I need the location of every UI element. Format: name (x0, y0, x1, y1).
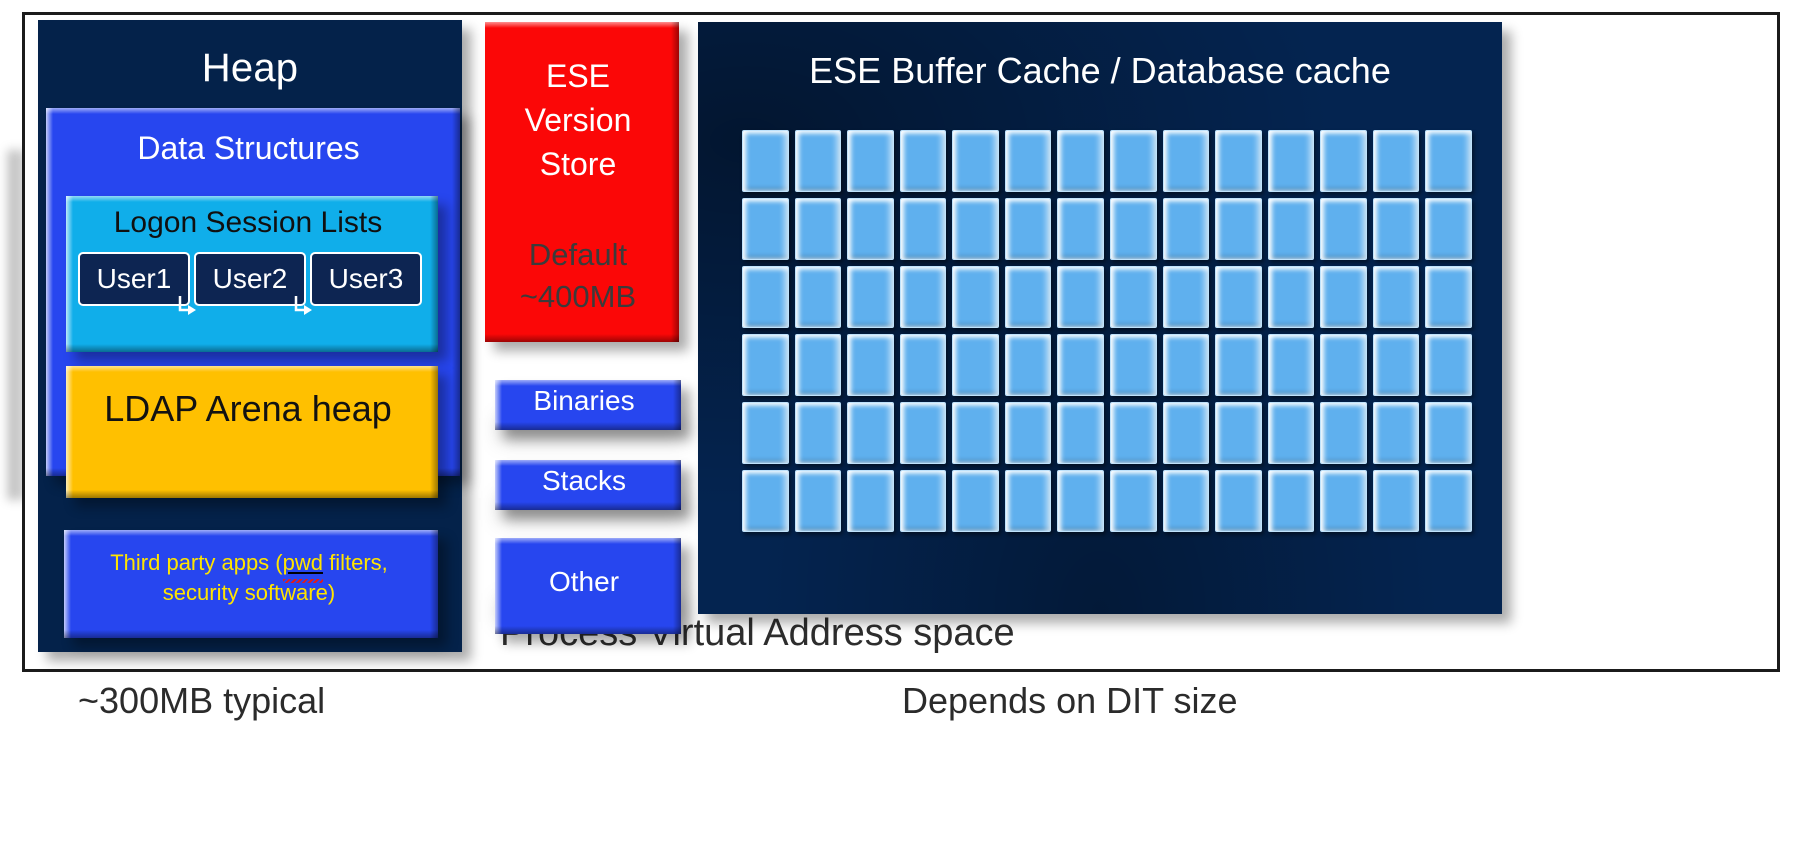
cache-page-cell (1215, 266, 1262, 328)
cache-page-cell (1163, 130, 1210, 192)
cache-page-cell (1320, 266, 1367, 328)
user-box-1[interactable]: User1 (78, 252, 190, 306)
binaries-label: Binaries (495, 380, 673, 422)
cache-page-cell (1163, 334, 1210, 396)
tp-text-after: filters, (323, 550, 388, 575)
cache-page-cell (900, 334, 947, 396)
cache-page-cell (1373, 470, 1420, 532)
cache-page-cell (1268, 334, 1315, 396)
bevel-shadow-right (430, 530, 438, 638)
cache-page-cell (1320, 198, 1367, 260)
third-party-apps-label: Third party apps (pwd filters, security … (74, 548, 424, 608)
stacks-box[interactable]: Stacks (495, 460, 681, 510)
cache-page-cell (795, 470, 842, 532)
cache-page-cell (1057, 266, 1104, 328)
cache-page-cell (1005, 470, 1052, 532)
ev-sub-line-1: Default (529, 237, 627, 272)
cache-page-cell (1215, 198, 1262, 260)
bevel-highlight-top (64, 530, 438, 536)
cache-page-cell (1373, 198, 1420, 260)
cache-page-cell (1110, 402, 1157, 464)
user-label: User3 (329, 263, 404, 295)
cache-page-cell (1110, 470, 1157, 532)
cache-page-grid (742, 130, 1472, 532)
user-label: User1 (97, 263, 172, 295)
bevel-shadow-bottom (485, 334, 679, 342)
bevel-highlight-top (66, 196, 438, 202)
cache-page-cell (1057, 402, 1104, 464)
cache-page-cell (1110, 266, 1157, 328)
cache-page-cell (952, 402, 999, 464)
bevel-shadow-right (430, 196, 438, 352)
cache-page-cell (1005, 266, 1052, 328)
third-party-apps-box[interactable]: Third party apps (pwd filters, security … (64, 530, 438, 638)
cache-page-cell (1320, 334, 1367, 396)
cache-page-cell (1215, 470, 1262, 532)
left-caption: ~300MB typical (78, 680, 325, 722)
cache-page-cell (1425, 130, 1472, 192)
cache-page-cell (742, 470, 789, 532)
cache-page-cell (952, 334, 999, 396)
bevel-highlight-top (485, 22, 679, 28)
cache-page-cell (1215, 402, 1262, 464)
user-box-3[interactable]: User3 (310, 252, 422, 306)
cache-page-cell (952, 198, 999, 260)
bevel-shadow-right (430, 366, 438, 498)
cache-page-cell (1110, 198, 1157, 260)
bevel-shadow-right (671, 22, 679, 342)
diagram-canvas: Heap Data Structures Logon Session Lists… (0, 0, 1808, 843)
cache-page-cell (900, 130, 947, 192)
cache-page-cell (1268, 198, 1315, 260)
cache-page-cell (1425, 266, 1472, 328)
cache-page-cell (1268, 470, 1315, 532)
cache-page-cell (742, 334, 789, 396)
cache-page-cell (952, 470, 999, 532)
cache-page-cell (1163, 266, 1210, 328)
user-label: User2 (213, 263, 288, 295)
binaries-box[interactable]: Binaries (495, 380, 681, 430)
cache-page-cell (952, 266, 999, 328)
ese-buffer-cache-panel: ESE Buffer Cache / Database cache (698, 22, 1502, 614)
cache-page-cell (1425, 402, 1472, 464)
tp-text-line2: security software) (163, 580, 335, 605)
ldap-arena-heap-label: LDAP Arena heap (66, 388, 430, 430)
bevel-shadow-bottom (64, 630, 438, 638)
stacks-label: Stacks (495, 460, 673, 502)
bevel-highlight-top (46, 108, 460, 114)
misspelled-word: pwd (283, 548, 323, 578)
bevel-shadow-bottom (495, 502, 681, 510)
cache-page-cell (847, 266, 894, 328)
tp-text-before: Third party apps ( (110, 550, 282, 575)
cache-page-cell (1005, 198, 1052, 260)
cache-page-cell (795, 334, 842, 396)
cache-page-cell (795, 402, 842, 464)
cache-page-cell (1320, 130, 1367, 192)
user-box-2[interactable]: User2 (194, 252, 306, 306)
bevel-shadow-bottom (495, 422, 681, 430)
ev-line-2: Version (525, 102, 632, 138)
cache-page-cell (1163, 198, 1210, 260)
other-box[interactable]: Other (495, 538, 681, 634)
cache-page-cell (847, 198, 894, 260)
heap-title: Heap (38, 46, 462, 91)
cache-page-cell (795, 266, 842, 328)
cache-page-cell (1163, 470, 1210, 532)
cache-page-cell (1268, 130, 1315, 192)
cache-page-cell (1005, 334, 1052, 396)
cache-page-cell (847, 334, 894, 396)
cache-page-cell (900, 470, 947, 532)
cache-page-cell (742, 130, 789, 192)
cache-page-cell (1110, 130, 1157, 192)
cache-page-cell (1005, 402, 1052, 464)
other-label: Other (495, 538, 673, 626)
cache-page-cell (847, 470, 894, 532)
cache-page-cell (1110, 334, 1157, 396)
cache-page-cell (1057, 334, 1104, 396)
ese-buffer-cache-title: ESE Buffer Cache / Database cache (698, 50, 1502, 92)
ese-version-store-subtitle: Default ~400MB (485, 234, 671, 318)
bevel-shadow-right (673, 538, 681, 634)
cache-page-cell (795, 130, 842, 192)
cache-page-cell (1215, 130, 1262, 192)
ev-line-1: ESE (546, 58, 610, 94)
cache-page-cell (900, 402, 947, 464)
cache-page-cell (1057, 130, 1104, 192)
cache-page-cell (900, 198, 947, 260)
right-caption: Depends on DIT size (902, 680, 1238, 722)
ev-sub-line-2: ~400MB (520, 279, 636, 314)
cache-page-cell (742, 266, 789, 328)
cache-page-cell (795, 198, 842, 260)
cache-page-cell (1373, 334, 1420, 396)
cache-page-cell (1373, 402, 1420, 464)
bevel-highlight-top (66, 366, 438, 372)
cache-page-cell (1373, 266, 1420, 328)
cache-page-cell (1425, 470, 1472, 532)
cache-page-cell (742, 402, 789, 464)
logon-session-lists-box[interactable]: Logon Session Lists User1 User2 User3 (66, 196, 438, 352)
cache-page-cell (952, 130, 999, 192)
cache-page-cell (900, 266, 947, 328)
bevel-shadow-right (452, 108, 460, 476)
ev-line-3: Store (540, 146, 616, 182)
bevel-highlight-left (64, 530, 71, 638)
user-list: User1 User2 User3 (78, 252, 422, 306)
cache-page-cell (1268, 402, 1315, 464)
cache-page-cell (1268, 266, 1315, 328)
cache-page-cell (742, 198, 789, 260)
ese-version-store-box[interactable]: ESE Version Store Default ~400MB (485, 22, 679, 342)
ese-version-store-title: ESE Version Store (485, 54, 671, 186)
cache-page-cell (1215, 334, 1262, 396)
ldap-arena-heap-box[interactable]: LDAP Arena heap (66, 366, 438, 498)
cache-page-cell (847, 402, 894, 464)
cache-page-cell (1320, 470, 1367, 532)
cache-page-cell (847, 130, 894, 192)
cache-page-cell (1425, 198, 1472, 260)
cache-page-cell (1320, 402, 1367, 464)
bevel-shadow-bottom (66, 344, 438, 352)
cache-page-cell (1163, 402, 1210, 464)
bevel-shadow-bottom (66, 490, 438, 498)
cache-page-cell (1425, 334, 1472, 396)
cache-page-cell (1057, 470, 1104, 532)
cache-page-cell (1005, 130, 1052, 192)
cache-page-cell (1057, 198, 1104, 260)
bevel-highlight-left (66, 366, 73, 498)
logon-session-lists-label: Logon Session Lists (66, 206, 430, 240)
bevel-shadow-bottom (495, 626, 681, 634)
data-structures-label: Data Structures (46, 130, 451, 167)
cache-page-cell (1373, 130, 1420, 192)
